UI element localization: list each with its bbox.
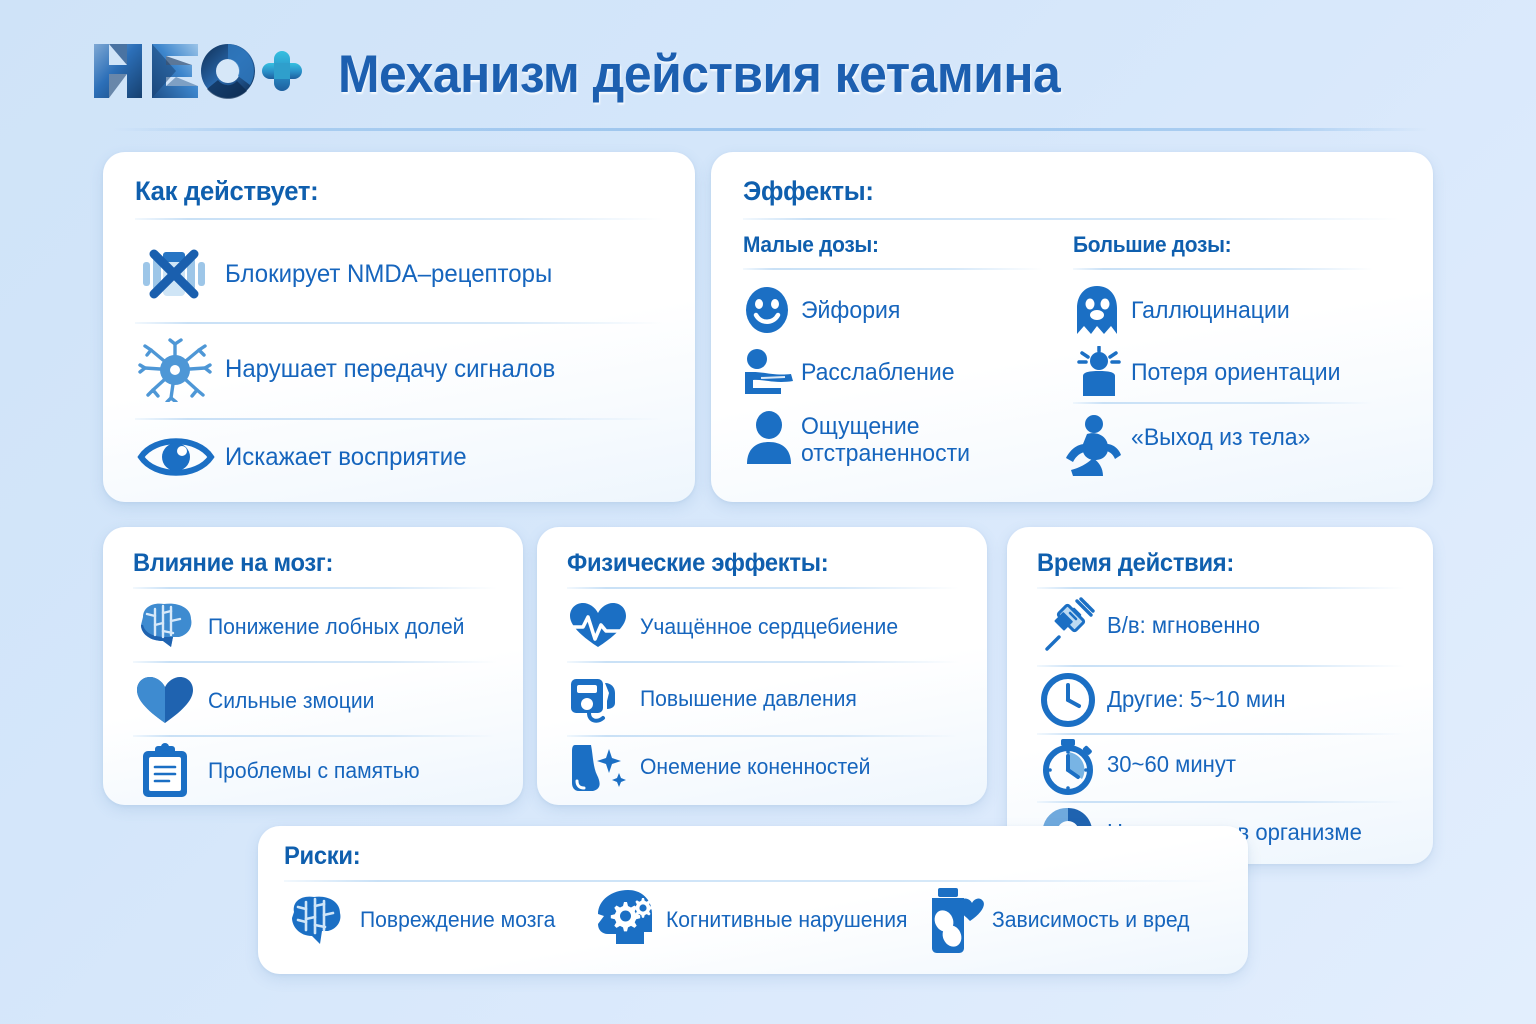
row-label: Другие: 5~10 мин (1107, 687, 1286, 713)
card-title-brain-impact: Влияние на мозг: (133, 549, 333, 578)
header-divider (112, 128, 1428, 131)
row-label: Онемение коненностей (640, 755, 870, 780)
dizzy-person-icon (1073, 346, 1125, 396)
row-label: Зависимость и вред (992, 908, 1189, 933)
brain-damage-icon (284, 892, 348, 950)
subtitle-small-doses: Малые дозы: (743, 232, 879, 258)
row-label: Потеря ориентации (1131, 360, 1340, 387)
divider (1037, 733, 1405, 735)
row-label: Понижение лобных долей (208, 615, 464, 640)
card-title-duration: Время действия: (1037, 549, 1234, 578)
row-label: Когнитивные нарушения (666, 908, 907, 933)
divider (1073, 402, 1373, 404)
pill-bottle-icon (922, 886, 984, 954)
divider (567, 587, 959, 589)
row-label: Сильные змоции (208, 689, 374, 714)
ghost-icon (1073, 284, 1121, 336)
clock-icon (1041, 673, 1095, 727)
row-label: Эйфория (801, 298, 900, 325)
divider (743, 268, 1043, 270)
divider (133, 661, 497, 663)
divider (567, 661, 959, 663)
blood-pressure-monitor-icon (569, 673, 625, 727)
card-how-it-works: Как действует: Блокирует NMDA–рецепторы (103, 152, 695, 502)
divider (1037, 665, 1405, 667)
divider (135, 322, 663, 324)
card-risks: Риски: Повреждение мозга К (258, 826, 1248, 974)
row-label: Ощущение отстраненности (801, 414, 974, 468)
row-label: Расслабление (801, 360, 955, 387)
person-bust-icon (743, 410, 795, 464)
header: Механизм действия кетамина (0, 0, 1536, 140)
divider (135, 218, 663, 220)
row-label: Учащённое сердцебиение (640, 615, 898, 640)
card-brain-impact: Влияние на мозг: Понижение лобных долей … (103, 527, 523, 805)
infographic-page: Механизм действия кетамина Как действует… (0, 0, 1536, 1024)
divider (135, 418, 663, 420)
divider (567, 735, 959, 737)
divider (133, 735, 497, 737)
stopwatch-icon (1039, 737, 1097, 795)
neo-plus-logo (92, 38, 302, 104)
row-label: В/в: мгновенно (1107, 613, 1260, 639)
neuron-icon (137, 338, 213, 402)
card-title-physical-effects: Физические эффекты: (567, 549, 828, 578)
floating-person-icon (1063, 414, 1127, 476)
eye-icon (137, 432, 215, 482)
divider (284, 880, 1222, 882)
head-gears-icon (594, 888, 656, 952)
card-effects: Эффекты: Малые дозы: Эйфория Расслаблени… (711, 152, 1433, 502)
row-label: Галлюцинации (1131, 298, 1290, 325)
heartbeat-icon (567, 601, 629, 649)
row-label: 30~60 минут (1107, 752, 1236, 778)
row-label: Нарушает передачу сигналов (225, 355, 555, 383)
syringe-icon (1041, 597, 1097, 655)
divider (743, 218, 1399, 220)
divider (1037, 801, 1405, 803)
smiley-face-icon (743, 286, 791, 334)
divider (1073, 268, 1373, 270)
reclining-person-icon (741, 348, 797, 400)
card-title-how-it-works: Как действует: (135, 176, 318, 207)
card-physical-effects: Физические эффекты: Учащённое сердцебиен… (537, 527, 987, 805)
subtitle-large-doses: Большие дозы: (1073, 232, 1231, 258)
card-duration: Время действия: В/в: мгновенно Другие: 5… (1007, 527, 1433, 864)
row-label: Повышение давления (640, 687, 857, 712)
numb-foot-icon (569, 741, 629, 797)
clipboard-icon (139, 743, 191, 799)
row-label: «Выход из тела» (1131, 425, 1310, 452)
row-label: Повреждение мозга (360, 908, 555, 933)
card-title-effects: Эффекты: (743, 176, 874, 207)
card-title-risks: Риски: (284, 842, 360, 871)
heart-icon (135, 675, 195, 725)
brain-icon (133, 601, 199, 651)
divider (1037, 587, 1405, 589)
row-label: Проблемы с памятью (208, 759, 420, 784)
page-title: Механизм действия кетамина (338, 44, 1060, 105)
row-label: Искажает восприятие (225, 443, 467, 471)
blocked-receptor-icon (135, 244, 213, 304)
divider (133, 587, 497, 589)
row-label: Блокирует NMDA–рецепторы (225, 260, 552, 288)
